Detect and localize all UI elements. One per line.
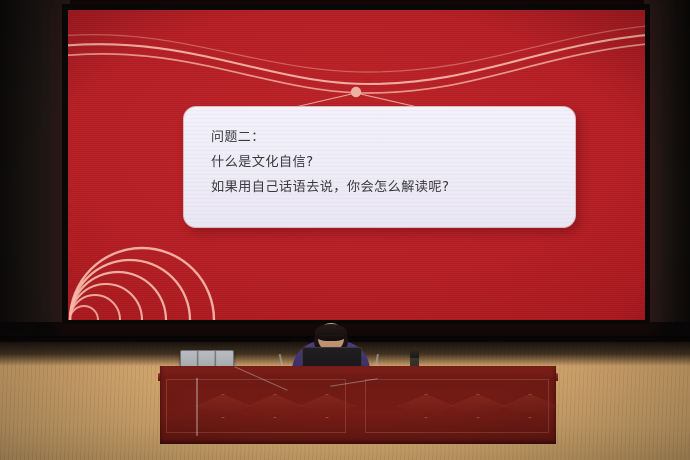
question-card-line-3: 如果用自己话语去说，你会怎么解读呢? [211, 175, 575, 200]
screenshot-root: 问题二： 什么是文化自信? 如果用自己话语去说，你会怎么解读呢? [0, 0, 690, 460]
table-diamond-5 [450, 394, 506, 418]
wall-left [0, 0, 70, 340]
table-panel-left [166, 379, 346, 433]
glasses-icon [319, 335, 343, 341]
question-card-line-2: 什么是文化自信? [211, 150, 575, 175]
table-diamond-1 [195, 394, 251, 418]
hanger-pin-icon [351, 87, 361, 97]
table-diamond-4 [398, 394, 454, 418]
question-card-line-1: 问题二： [211, 125, 575, 150]
question-card: 问题二： 什么是文化自信? 如果用自己话语去说，你会怎么解读呢? [183, 106, 576, 228]
table-diamond-2 [247, 394, 303, 418]
speaker-table [160, 366, 556, 444]
wall-right [644, 0, 690, 345]
concentric-arcs [70, 248, 214, 320]
projection-screen: 问题二： 什么是文化自信? 如果用自己话语去说，你会怎么解读呢? [68, 10, 645, 320]
cable-left [196, 378, 198, 436]
table-panel-right [365, 379, 549, 433]
wavy-ribbon-lines [68, 25, 645, 93]
table-diamond-6 [502, 394, 558, 418]
table-diamond-3 [299, 394, 355, 418]
